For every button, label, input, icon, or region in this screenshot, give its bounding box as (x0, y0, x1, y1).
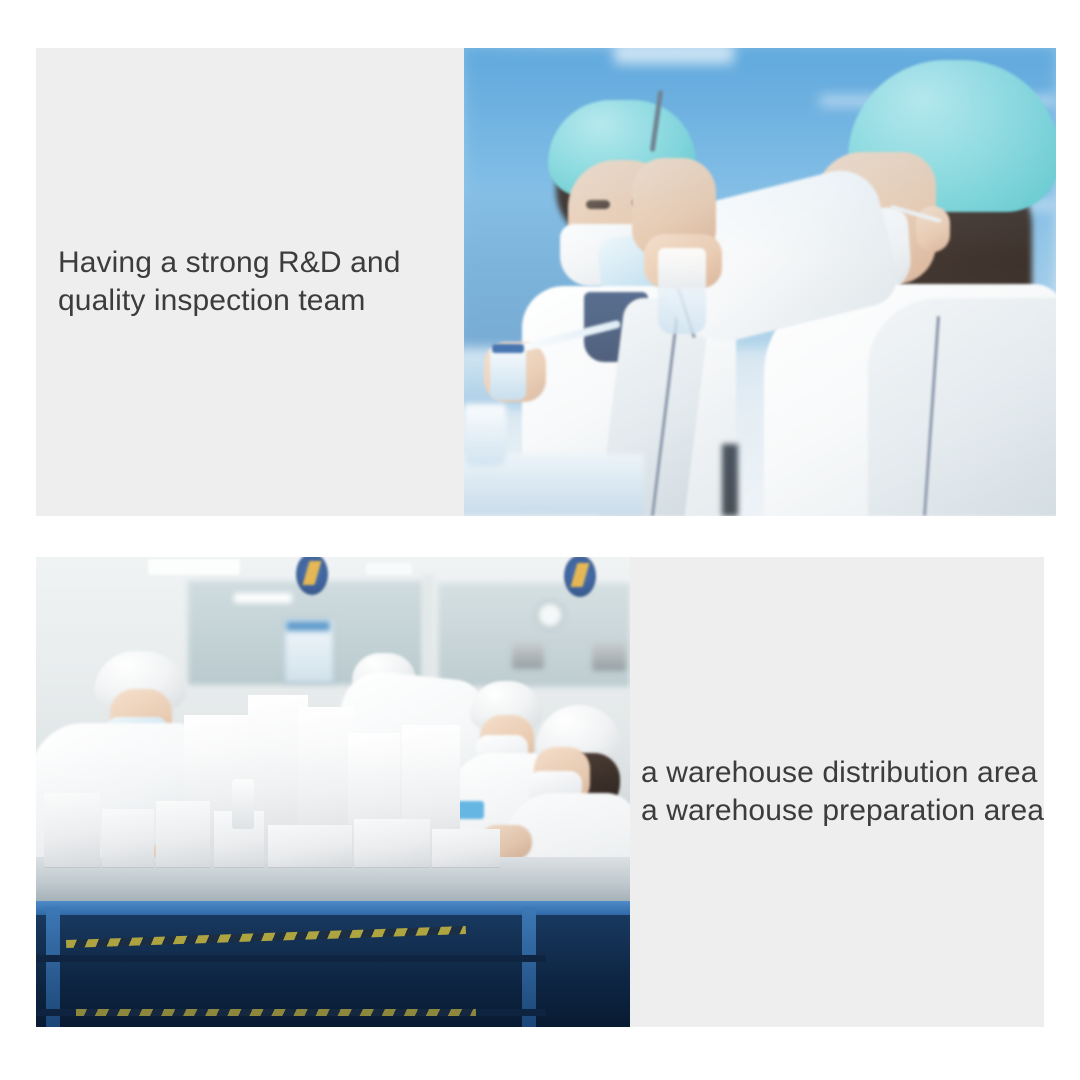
caption-bottom-line-1: a warehouse distribution area (641, 754, 1040, 792)
caption-top-line-1: Having a strong R&D and (58, 244, 454, 282)
warehouse-packing-photo (36, 557, 630, 1027)
lab-photo-haze (464, 48, 1056, 516)
section-quality-inspection: Having a strong R&D and quality inspecti… (36, 48, 1056, 516)
caption-panel-top: Having a strong R&D and quality inspecti… (36, 48, 464, 516)
section-warehouse: a warehouse distribution area a warehous… (36, 557, 1044, 1027)
caption-panel-bottom: a warehouse distribution area a warehous… (630, 557, 1044, 1027)
page-canvas: Having a strong R&D and quality inspecti… (0, 0, 1080, 1080)
lab-quality-inspection-photo (464, 48, 1056, 516)
caption-bottom-line-2: a warehouse preparation area (641, 792, 1040, 830)
warehouse-photo-haze (36, 557, 630, 1027)
caption-top-line-2: quality inspection team (58, 282, 454, 320)
